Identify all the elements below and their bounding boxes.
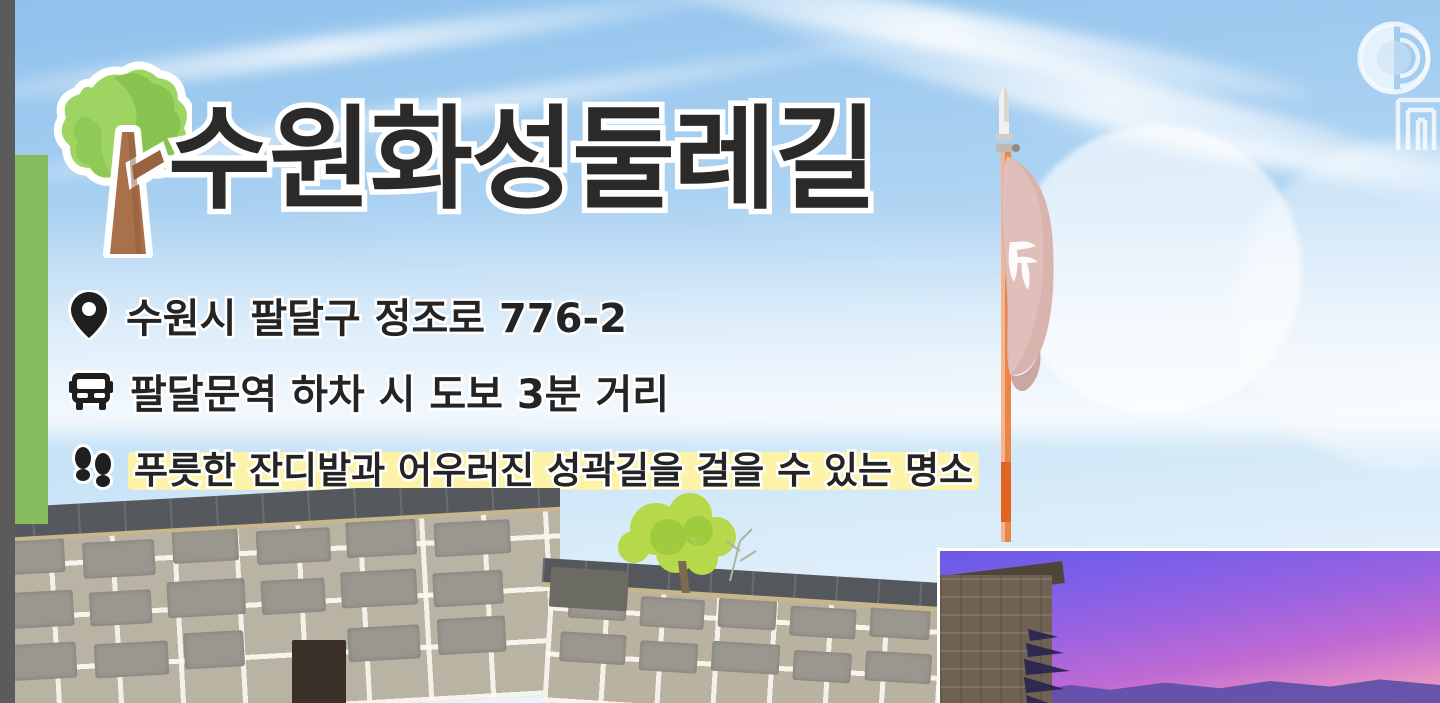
bus-icon: [68, 369, 114, 413]
info-row-description: 푸릇한 잔디밭과 어우러진 성곽길을 걸을 수 있는 명소: [70, 440, 973, 494]
info-row-transit: 팔달문역 하차 시 도보 3분 거리: [68, 362, 669, 420]
background-tree-icon: [598, 488, 788, 595]
transit-text: 팔달문역 하차 시 도보 3분 거리: [130, 362, 669, 420]
poster-canvas: 수원화성둘레길 수원시 팔달구 정조로 776-2 팔달문역 하차 시 도보 3…: [0, 0, 1440, 703]
footprints-icon: [70, 443, 118, 491]
left-green-bar: [15, 155, 48, 524]
description-highlight: 푸릇한 잔디밭과 어우러진 성곽길을 걸을 수 있는 명소: [134, 440, 973, 494]
info-row-address: 수원시 팔달구 정조로 776-2: [68, 286, 627, 344]
description-text: 푸릇한 잔디밭과 어우러진 성곽길을 걸을 수 있는 명소: [134, 449, 973, 492]
wall-opening: [292, 640, 346, 703]
address-text: 수원시 팔달구 정조로 776-2: [126, 286, 627, 344]
pine-tree-icon: [1024, 623, 1114, 703]
hwaseong-night-sunset-inset: [937, 548, 1440, 703]
suwon-emblem-icon: [1340, 4, 1440, 154]
location-pin-icon: [68, 290, 110, 340]
page-title: 수원화성둘레길: [168, 104, 875, 216]
left-gray-bar-bottom: [0, 488, 15, 703]
hwaseong-fortress-stone-wall-left: [0, 488, 560, 703]
